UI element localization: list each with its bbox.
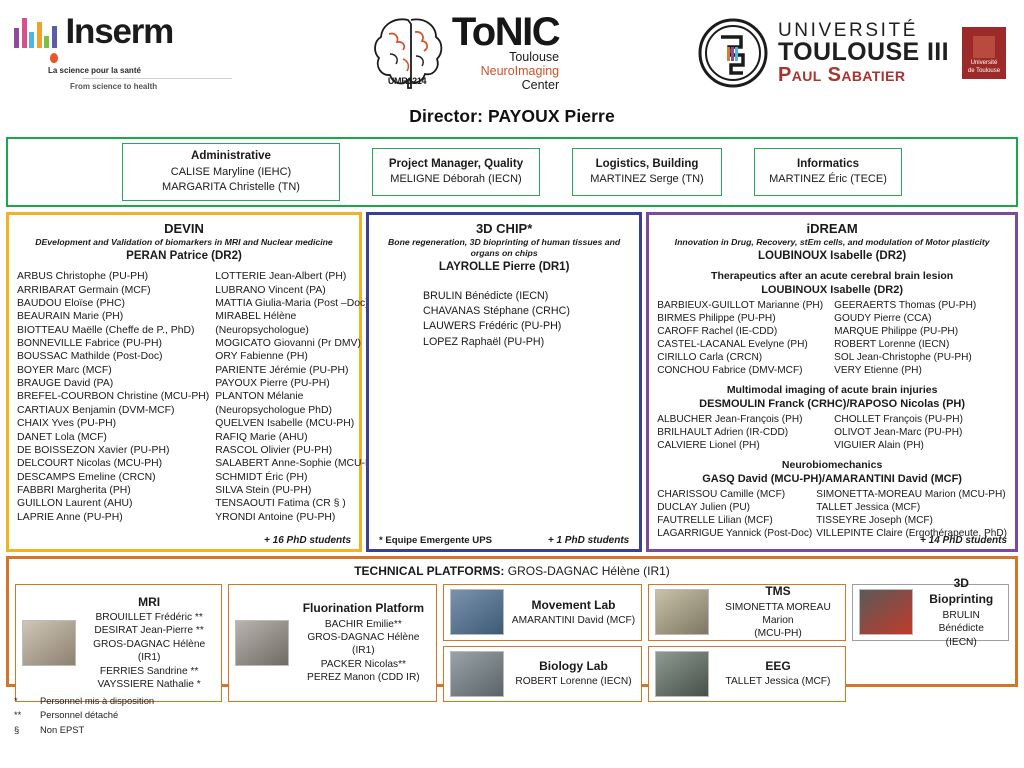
inserm-divider [82,78,232,79]
team-idream[interactable]: iDREAM Innovation in Drug, Recovery, stE… [646,212,1018,552]
member-name: LOTTERIE Jean-Albert (PH) [215,270,383,283]
platform-member: GROS-DAGNAC Hélène (IR1) [296,631,430,658]
platform-member: VAYSSIERE Nathalie * [83,678,215,691]
subgroup-members-right: SIMONETTA-MOREAU Marion (MCU-PH)TALLET J… [816,489,1007,541]
team-idream-subgroups: Therapeutics after an acute cerebral bra… [657,269,1007,541]
fluorination-equipment-photo [235,620,289,666]
inserm-tagline-fr: La science pour la santé [48,65,232,77]
member-name: DELCOURT Nicolas (MCU-PH) [17,457,209,470]
platform-card-body: Movement LabAMARANTINI David (MCF) [511,597,635,628]
inserm-logo: Inserm La science pour la santé From sci… [14,14,232,92]
member-name: BARBIEUX-GUILLOT Marianne (PH) [657,300,830,313]
universite-toulouse-logo: UNIVERSITÉ TOULOUSE III Paul Sabatier Un… [697,17,1006,89]
member-name: BRAUGE David (PA) [17,377,209,390]
support-member: MARTINEZ Serge (TN) [583,172,711,187]
team-3d-chip[interactable]: 3D CHIP* Bone regeneration, 3D bioprinti… [366,212,642,552]
member-name: SCHMIDT Éric (PH) [215,471,383,484]
member-name: CARTIAUX Benjamin (DVM-MCF) [17,404,209,417]
member-name: VERY Etienne (PH) [834,365,1007,378]
member-name: ORY Fabienne (PH) [215,350,383,363]
member-name: LAUWERS Frédéric (PU-PH) [423,319,631,334]
team-idream-phd-note: + 14 PhD students [920,535,1007,546]
team-3d-chip-phd-note: + 1 PhD students [548,535,629,546]
platform-member: DESIRAT Jean-Pierre ** [83,624,215,637]
member-name: CHAVANAS Stéphane (CRHC) [423,304,631,319]
subgroup-members-left: ALBUCHER Jean-François (PH)BRILHAULT Adr… [657,414,830,453]
platform-title: Biology Lab [511,658,635,674]
team-3d-chip-footer: * Equipe Emergente UPS + 1 PhD students [379,535,629,546]
member-name: MIRABEL Hélène [215,310,383,323]
ut3-line-toulouse: TOULOUSE III [778,40,949,65]
member-name: CHAIX Yves (PU-PH) [17,417,209,430]
tonic-wordmark: ToNIC [452,14,559,50]
member-name: ARBUS Christophe (PU-PH) [17,270,209,283]
member-name: TALLET Jessica (MCF) [816,502,1007,515]
member-name: PLANTON Mélanie [215,390,383,403]
tonic-logo: UMR1214 ToNIC Toulouse NeuroImaging Cent… [370,14,559,92]
org-chart-page: Inserm La science pour la santé From sci… [0,0,1024,768]
tonic-umr-label: UMR1214 [388,76,426,86]
footnote: **Personnel détaché [14,708,1024,722]
support-title: Logistics, Building [583,157,711,173]
member-name: ARRIBARAT Germain (MCF) [17,284,209,297]
member-name: DESCAMPS Emeline (CRCN) [17,471,209,484]
team-devin-subtitle: DEvelopment and Validation of biomarkers… [17,237,351,248]
team-devin-name: DEVIN [17,221,351,237]
subgroup-members-right: GEERAERTS Thomas (PU-PH)GOUDY Pierre (CC… [834,300,1007,378]
platform-title: 3D Bioprinting [920,575,1002,607]
platform-member: AMARANTINI David (MCF) [511,614,635,627]
director-title: Director: PAYOUX Pierre [0,106,1024,127]
subgroup-title: Therapeutics after an acute cerebral bra… [657,269,1007,283]
member-name: RASCOL Olivier (PU-PH) [215,444,383,457]
biology-lab-photo [450,651,504,697]
ut3-maze-icon [697,17,769,89]
team-3d-chip-footnote: * Equipe Emergente UPS [379,535,492,546]
support-member: MARGARITA Christelle (TN) [133,180,329,195]
platform-card-body: Biology LabROBERT Lorenne (IECN) [511,658,635,689]
subgroup-members-right: CHOLLET François (PU-PH)OLIVOT Jean-Marc… [834,414,1007,453]
support-member: MELIGNE Déborah (IECN) [383,172,529,187]
platform-title: Fluorination Platform [296,600,430,616]
platform-member: SIMONETTA MOREAU Marion [716,601,839,628]
footnote-marker: § [14,723,40,737]
subgroup-members-left: CHARISSOU Camille (MCF)DUCLAY Julien (PU… [657,489,812,541]
platform-title: MRI [83,594,215,610]
member-name: SILVA Stein (PU-PH) [215,484,383,497]
team-3d-chip-members: BRULIN Bénédicte (IECN)CHAVANAS Stéphane… [377,289,631,350]
member-name: DUCLAY Julien (PU) [657,502,812,515]
team-devin[interactable]: DEVIN DEvelopment and Validation of biom… [6,212,362,552]
tonic-line-center: Center [452,78,559,92]
member-name: CALVIERE Lionel (PH) [657,440,830,453]
technical-platforms-heading-bold: TECHNICAL PLATFORMS: [354,564,504,578]
platform-title: Movement Lab [511,597,635,613]
member-name: BAUDOU Eloïse (PHC) [17,297,209,310]
mri-scanner-photo [22,620,76,666]
team-idream-subtitle: Innovation in Drug, Recovery, stEm cells… [657,237,1007,248]
support-services-band: Administrative CALISE Maryline (IEHC) MA… [6,137,1018,207]
platform-card-fluorination-platform[interactable]: Fluorination PlatformBACHIR Emilie**GROS… [228,584,437,702]
inserm-tagline-en: From science to health [48,81,232,93]
subgroup-leader: DESMOULIN Franck (CRHC)/RAPOSO Nicolas (… [657,397,1007,412]
platform-member: (MCU-PH) [716,627,839,640]
team-3d-chip-name: 3D CHIP* [377,221,631,237]
platform-member: BACHIR Emilie** [296,618,430,631]
member-name: BEAURAIN Marie (PH) [17,310,209,323]
member-name: CAROFF Rachel (IE-CDD) [657,326,830,339]
member-name: TISSEYRE Joseph (MCF) [816,515,1007,528]
footnote-marker: * [14,694,40,708]
platform-card-movement-lab[interactable]: Movement LabAMARANTINI David (MCF) [443,584,642,641]
platform-card-mri[interactable]: MRIBROUILLET Frédéric **DESIRAT Jean-Pie… [15,584,222,702]
platform-stack-movement-biology: Movement LabAMARANTINI David (MCF)Biolog… [443,584,642,702]
member-name: MARQUE Philippe (PU-PH) [834,326,1007,339]
tonic-line-neuroimaging: NeuroImaging [452,64,559,78]
platform-card-tms[interactable]: TMSSIMONETTA MOREAU Marion(MCU-PH) [648,584,846,641]
platform-card-body: MRIBROUILLET Frédéric **DESIRAT Jean-Pie… [83,594,215,692]
team-devin-members-left: ARBUS Christophe (PU-PH)ARRIBARAT Germai… [17,270,209,524]
platform-card-body: Fluorination PlatformBACHIR Emilie**GROS… [296,600,430,684]
ut3-seal-icon: Université de Toulouse [962,27,1006,79]
team-devin-members-right: LOTTERIE Jean-Albert (PH)LUBRANO Vincent… [215,270,383,524]
subgroup-members: BARBIEUX-GUILLOT Marianne (PH)BIRMES Phi… [657,300,1007,378]
member-name: CIRILLO Carla (CRCN) [657,352,830,365]
member-name: GUILLON Laurent (AHU) [17,497,209,510]
technical-platforms-heading: TECHNICAL PLATFORMS: GROS-DAGNAC Hélène … [15,564,1009,580]
team-devin-members: ARBUS Christophe (PU-PH)ARRIBARAT Germai… [17,270,351,524]
3d-bioprinting-photo [859,589,913,635]
member-name: MATTIA Giulia-Maria (Post –Doc) [215,297,383,310]
member-name: PAYOUX Pierre (PU-PH) [215,377,383,390]
platform-member: PEREZ Manon (CDD IR) [296,671,430,684]
technical-platforms-section: TECHNICAL PLATFORMS: GROS-DAGNAC Hélène … [6,556,1018,687]
member-name: CONCHOU Fabrice (DMV-MCF) [657,365,830,378]
platform-card-biology-lab[interactable]: Biology LabROBERT Lorenne (IECN) [443,646,642,702]
team-3d-chip-leader: LAYROLLE Pierre (DR1) [377,259,631,275]
member-name: BIRMES Philippe (PU-PH) [657,313,830,326]
member-name: BIOTTEAU Maëlle (Cheffe de P., PhD) [17,324,209,337]
team-devin-leader: PERAN Patrice (DR2) [17,248,351,264]
platform-member: TALLET Jessica (MCF) [716,675,839,688]
subgroup-title: Neurobiomechanics [657,458,1007,472]
brain-icon: UMR1214 [370,14,446,92]
member-name: PARIENTE Jérémie (PU-PH) [215,364,383,377]
footnote-text: Non EPST [40,723,84,737]
support-box-informatics[interactable]: Informatics MARTINEZ Éric (TECE) [754,148,902,196]
subgroup-members: CHARISSOU Camille (MCF)DUCLAY Julien (PU… [657,489,1007,541]
subgroup-members-left: BARBIEUX-GUILLOT Marianne (PH)BIRMES Phi… [657,300,830,378]
platform-cards-grid: MRIBROUILLET Frédéric **DESIRAT Jean-Pie… [15,584,1009,702]
platform-title: EEG [716,658,839,674]
member-name: SALABERT Anne-Sophie (MCU-PH) [215,457,383,470]
member-name: (Neuropsychologue PhD) [215,404,383,417]
member-name: YRONDI Antoine (PU-PH) [215,511,383,524]
member-name: CASTEL-LACANAL Evelyne (PH) [657,339,830,352]
support-box-project-manager-quality[interactable]: Project Manager, Quality MELIGNE Déborah… [372,148,540,196]
member-name: FAUTRELLE Lilian (MCF) [657,515,812,528]
inserm-bars-icon [14,14,57,48]
platform-member: BROUILLET Frédéric ** [83,611,215,624]
ut3-seal-line1: Université [962,60,1006,68]
team-3d-chip-subtitle: Bone regeneration, 3D bioprinting of hum… [377,237,631,259]
member-name: BRILHAULT Adrien (IR-CDD) [657,427,830,440]
inserm-dot-icon [50,53,58,63]
tms-device-photo [655,589,709,635]
member-name: (Neuropsychologue) [215,324,383,337]
subgroup-leader: GASQ David (MCU-PH)/AMARANTINI David (MC… [657,472,1007,487]
member-name: LOPEZ Raphaël (PU-PH) [423,335,631,350]
support-title: Administrative [133,149,329,165]
member-name: SOL Jean-Christophe (PU-PH) [834,352,1007,365]
tonic-line-toulouse: Toulouse [452,50,559,64]
member-name: RAFIQ Marie (AHU) [215,431,383,444]
member-name: BONNEVILLE Fabrice (PU-PH) [17,337,209,350]
logo-header: Inserm La science pour la santé From sci… [0,0,1024,102]
member-name: CHARISSOU Camille (MCF) [657,489,812,502]
member-name: LAGARRIGUE Yannick (Post-Doc) [657,528,812,541]
platform-member: BRULIN Bénédicte [920,609,1002,636]
eeg-room-photo [655,651,709,697]
member-name: BOUSSAC Mathilde (Post-Doc) [17,350,209,363]
platform-member: PACKER Nicolas** [296,658,430,671]
subgroup-leader: LOUBINOUX Isabelle (DR2) [657,283,1007,298]
platform-card-eeg[interactable]: EEGTALLET Jessica (MCF) [648,646,846,702]
member-name: OLIVOT Jean-Marc (PU-PH) [834,427,1007,440]
member-name: VIGUIER Alain (PH) [834,440,1007,453]
inserm-wordmark: Inserm [66,16,174,48]
member-name: GOUDY Pierre (CCA) [834,313,1007,326]
subgroup-members: ALBUCHER Jean-François (PH)BRILHAULT Adr… [657,414,1007,453]
ut3-line-paul-sabatier: Paul Sabatier [778,65,949,85]
member-name: BOYER Marc (MCF) [17,364,209,377]
footnote-text: Personnel mis à disposition [40,694,154,708]
platform-card-body: TMSSIMONETTA MOREAU Marion(MCU-PH) [716,583,839,641]
member-name: DANET Lola (MCF) [17,431,209,444]
team-idream-name: iDREAM [657,221,1007,237]
member-name: BREFEL-COURBON Christine (MCU-PH) [17,390,209,403]
support-title: Project Manager, Quality [383,157,529,173]
platform-member: (IECN) [920,636,1002,649]
movement-lab-photo [450,589,504,635]
platform-title: TMS [716,583,839,599]
member-name: FABBRI Margherita (PH) [17,484,209,497]
member-name: SIMONETTA-MOREAU Marion (MCU-PH) [816,489,1007,502]
member-name: TENSAOUTI Fatima (CR § ) [215,497,383,510]
member-name: LAPRIE Anne (PU-PH) [17,511,209,524]
member-name: ROBERT Lorenne (IECN) [834,339,1007,352]
platform-stack-tms-eeg: TMSSIMONETTA MOREAU Marion(MCU-PH)EEGTAL… [648,584,846,702]
footnote-marker: ** [14,708,40,722]
team-idream-leader: LOUBINOUX Isabelle (DR2) [657,248,1007,264]
support-box-logistics-building[interactable]: Logistics, Building MARTINEZ Serge (TN) [572,148,722,196]
platform-card-body: EEGTALLET Jessica (MCF) [716,658,839,689]
support-box-administrative[interactable]: Administrative CALISE Maryline (IEHC) MA… [122,143,340,201]
member-name: GEERAERTS Thomas (PU-PH) [834,300,1007,313]
member-name: MOGICATO Giovanni (Pr DMV) [215,337,383,350]
research-teams-row: DEVIN DEvelopment and Validation of biom… [6,212,1018,552]
subgroup-title: Multimodal imaging of acute brain injuri… [657,383,1007,397]
member-name: BRULIN Bénédicte (IECN) [423,289,631,304]
platform-member: ROBERT Lorenne (IECN) [511,675,635,688]
platform-member: FERRIES Sandrine ** [83,665,215,678]
member-name: ALBUCHER Jean-François (PH) [657,414,830,427]
member-name: QUELVEN Isabelle (MCU-PH) [215,417,383,430]
member-name: CHOLLET François (PU-PH) [834,414,1007,427]
member-name: DE BOISSEZON Xavier (PU-PH) [17,444,209,457]
support-member: MARTINEZ Éric (TECE) [765,172,891,187]
footnote: §Non EPST [14,723,1024,737]
platform-card-3d-bioprinting[interactable]: 3D BioprintingBRULIN Bénédicte(IECN) [852,584,1009,641]
member-name: LUBRANO Vincent (PA) [215,284,383,297]
platform-member: GROS-DAGNAC Hélène (IR1) [83,638,215,665]
team-devin-phd-note: + 16 PhD students [264,535,351,546]
support-title: Informatics [765,157,891,173]
support-member: CALISE Maryline (IEHC) [133,165,329,180]
footnote-text: Personnel détaché [40,708,118,722]
technical-platforms-heading-lead: GROS-DAGNAC Hélène (IR1) [504,564,669,578]
ut3-seal-line2: de Toulouse [962,68,1006,76]
platform-card-body: 3D BioprintingBRULIN Bénédicte(IECN) [920,575,1002,649]
